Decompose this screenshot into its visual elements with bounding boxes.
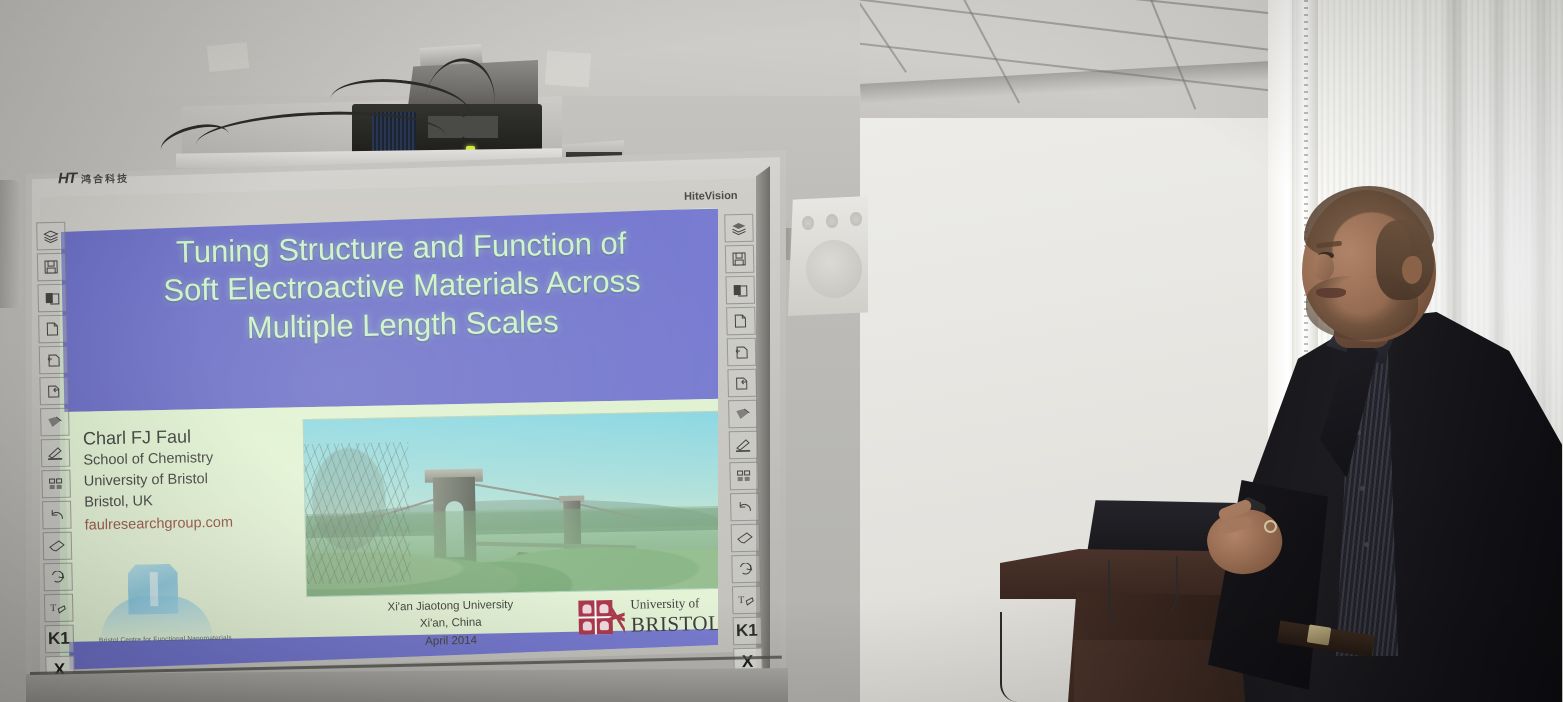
save-icon[interactable]: [724, 245, 754, 274]
grid-icon[interactable]: [729, 462, 759, 491]
import-page-icon[interactable]: [38, 346, 68, 375]
bristol-wordmark: University of BRISTOL: [630, 594, 718, 637]
wall-bracket-left: [0, 180, 22, 308]
slide-author-block: Charl FJ Faul School of Chemistry Univer…: [83, 423, 315, 537]
pen-icon[interactable]: [40, 439, 70, 468]
new-page-icon[interactable]: [38, 315, 68, 344]
lecture-room-scene: HT 鸿合科技 HiteVision Tuning Structure and …: [0, 0, 1563, 702]
whiteboard-brand-cn: 鸿合科技: [81, 169, 129, 185]
edit-icon[interactable]: [728, 400, 758, 429]
eraser-icon[interactable]: [730, 524, 760, 553]
bcfn-logo-caption: Bristol Centre for Functional Nanomateri…: [99, 634, 245, 644]
k1-button[interactable]: K1: [732, 617, 762, 646]
wall-patch-left: [207, 42, 249, 72]
redo-icon[interactable]: [731, 555, 761, 584]
svg-text:T: T: [50, 603, 56, 614]
speaker-tweeter-mid: [826, 214, 838, 228]
whiteboard-brand-logo: HT 鸿合科技: [58, 165, 188, 189]
redo-icon[interactable]: [43, 563, 73, 592]
bcfn-logo-glyph: [127, 564, 178, 615]
speaker-tweeter-right: [850, 212, 862, 226]
bristol-wordmark-line-2: BRISTOL: [631, 610, 718, 637]
edit-icon[interactable]: [40, 408, 70, 437]
bristol-wordmark-line-1: University of: [630, 594, 718, 612]
pen-icon[interactable]: [728, 431, 758, 460]
export-page-icon[interactable]: [727, 369, 757, 398]
speaker-woofer: [806, 240, 862, 298]
new-page-icon[interactable]: [726, 307, 756, 336]
copy-page-icon[interactable]: [37, 284, 67, 313]
grid-icon[interactable]: [41, 470, 71, 499]
import-page-icon[interactable]: [726, 338, 756, 367]
slide-title: Tuning Structure and Function of Soft El…: [89, 223, 715, 351]
undo-icon[interactable]: [730, 493, 760, 522]
whiteboard-brand-mark: HT: [58, 169, 76, 186]
presenter-ring: [1264, 520, 1277, 533]
floor-cable: [1000, 612, 1018, 702]
presenter-ear: [1402, 256, 1422, 284]
book-icon[interactable]: [36, 222, 66, 251]
photo-bare-tree: [303, 442, 411, 584]
bristol-crest-ship-icon: [608, 601, 625, 633]
book-icon[interactable]: [724, 214, 754, 243]
eraser-icon[interactable]: [42, 532, 72, 561]
presenter: [1180, 180, 1563, 702]
export-page-icon[interactable]: [39, 377, 69, 406]
copy-page-icon[interactable]: [725, 276, 755, 305]
university-of-bristol-logo: University of BRISTOL: [578, 593, 718, 640]
speaker-tweeter-left: [802, 216, 814, 230]
save-icon[interactable]: [36, 253, 66, 282]
wall-patch-right: [545, 51, 591, 88]
undo-icon[interactable]: [42, 501, 72, 530]
presenter-nose: [1314, 254, 1334, 280]
text-icon[interactable]: T: [731, 586, 761, 615]
projected-slide: Tuning Structure and Function of Soft El…: [60, 208, 718, 670]
whiteboard-brand-hitevision: HiteVision: [684, 189, 774, 203]
slide-conference-block: Xi'an Jiaotong University Xi'an, China A…: [306, 595, 595, 653]
text-icon[interactable]: T: [43, 594, 73, 623]
bcfn-logo: Bristol Centre for Functional Nanomateri…: [97, 560, 249, 651]
presenter-belt-buckle: [1307, 624, 1332, 645]
presenter-mouth: [1316, 288, 1346, 298]
svg-text:T: T: [738, 595, 744, 606]
k1-button[interactable]: K1: [44, 625, 74, 654]
author-city: Bristol, UK: [84, 488, 314, 514]
slide-bridge-photo: [303, 411, 718, 597]
